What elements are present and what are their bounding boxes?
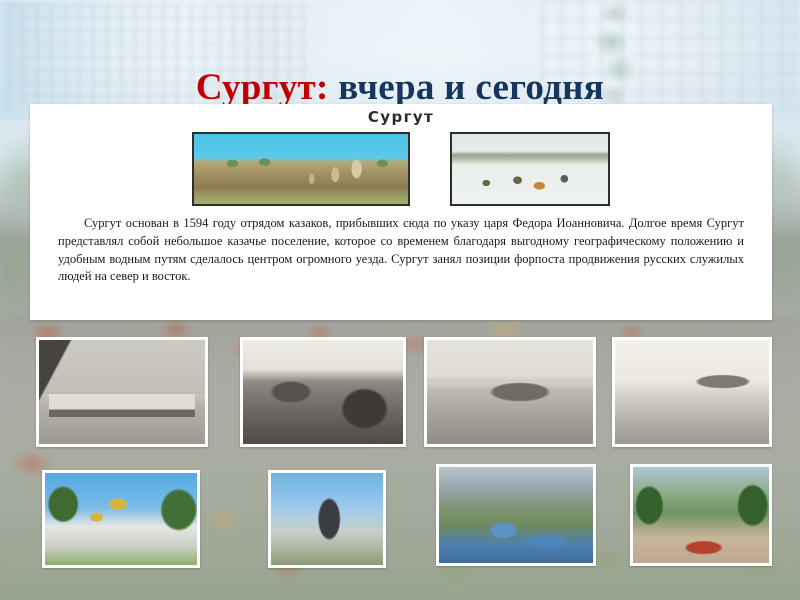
- winter-sled-caravan-illustration: [450, 132, 610, 206]
- photo-city-aerial-river-view: [436, 464, 596, 566]
- panel-heading: Сургут: [30, 108, 772, 126]
- slide-title-main: вчера и сегодня: [329, 67, 604, 108]
- panel-figure-row: [30, 132, 772, 206]
- photo-founders-monument: [268, 470, 386, 568]
- old-surgut-fortress-illustration: [192, 132, 410, 206]
- photo-construction-winter-settlement: [424, 337, 596, 447]
- content-panel: Сургут Сургут основан в 1594 году отрядо…: [30, 104, 772, 320]
- panel-body-text: Сургут основан в 1594 году отрядом казак…: [58, 215, 744, 286]
- photo-old-wooden-house-street: [36, 337, 208, 447]
- photo-street-crowd-flags: [612, 337, 772, 447]
- slide-title: Сургут: вчера и сегодня: [0, 69, 800, 108]
- slide-title-accent: Сургут:: [196, 67, 329, 108]
- photo-park-alley-flowerbed: [630, 464, 772, 566]
- photo-orthodox-church-golden-domes: [42, 470, 200, 568]
- photo-river-bank-boats: [240, 337, 406, 447]
- presentation-slide: Сургут: вчера и сегодня Сургут Сургут ос…: [0, 0, 800, 600]
